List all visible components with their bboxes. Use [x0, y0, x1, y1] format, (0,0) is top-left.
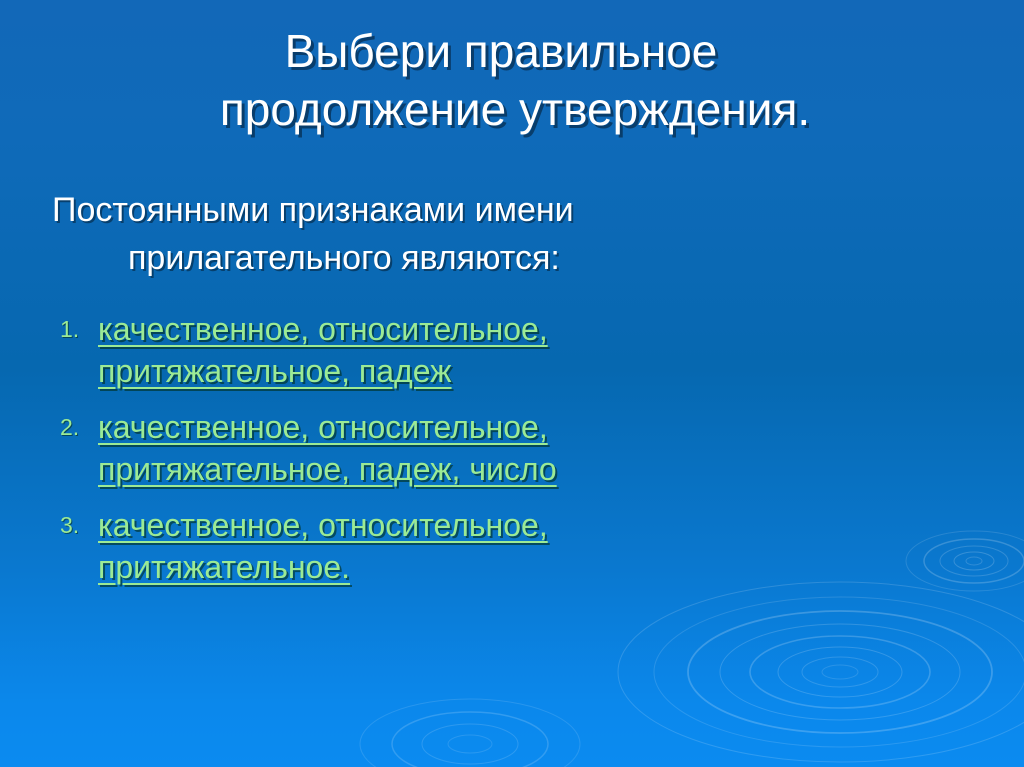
title-line-2: продолжение утверждения. — [66, 80, 964, 138]
answer-option-1[interactable]: 1. качественное, относительное, притяжат… — [52, 308, 992, 392]
water-ripple-left — [360, 699, 580, 767]
slide-title: Выбери правильное продолжение утверждени… — [60, 22, 964, 138]
answer-number-1: 1. — [52, 308, 98, 350]
answer-text-3[interactable]: качественное, относительное, притяжатель… — [98, 504, 778, 588]
answer-option-2[interactable]: 2. качественное, относительное, притяжат… — [52, 406, 992, 490]
answer-options-list: 1. качественное, относительное, притяжат… — [52, 308, 992, 602]
presentation-slide: Выбери правильное продолжение утверждени… — [0, 0, 1024, 767]
slide-lead-paragraph: Постоянными признаками имени прилагатель… — [52, 186, 972, 282]
answer-text-2[interactable]: качественное, относительное, притяжатель… — [98, 406, 778, 490]
water-ripple-large — [618, 582, 1024, 762]
lead-line-2: прилагательного являются: — [52, 234, 972, 282]
answer-number-2: 2. — [52, 406, 98, 448]
answer-option-3[interactable]: 3. качественное, относительное, притяжат… — [52, 504, 992, 588]
lead-line-1: Постоянными признаками имени — [52, 186, 972, 234]
answer-text-1[interactable]: качественное, относительное, притяжатель… — [98, 308, 778, 392]
answer-number-3: 3. — [52, 504, 98, 546]
title-line-1: Выбери правильное — [38, 22, 964, 80]
